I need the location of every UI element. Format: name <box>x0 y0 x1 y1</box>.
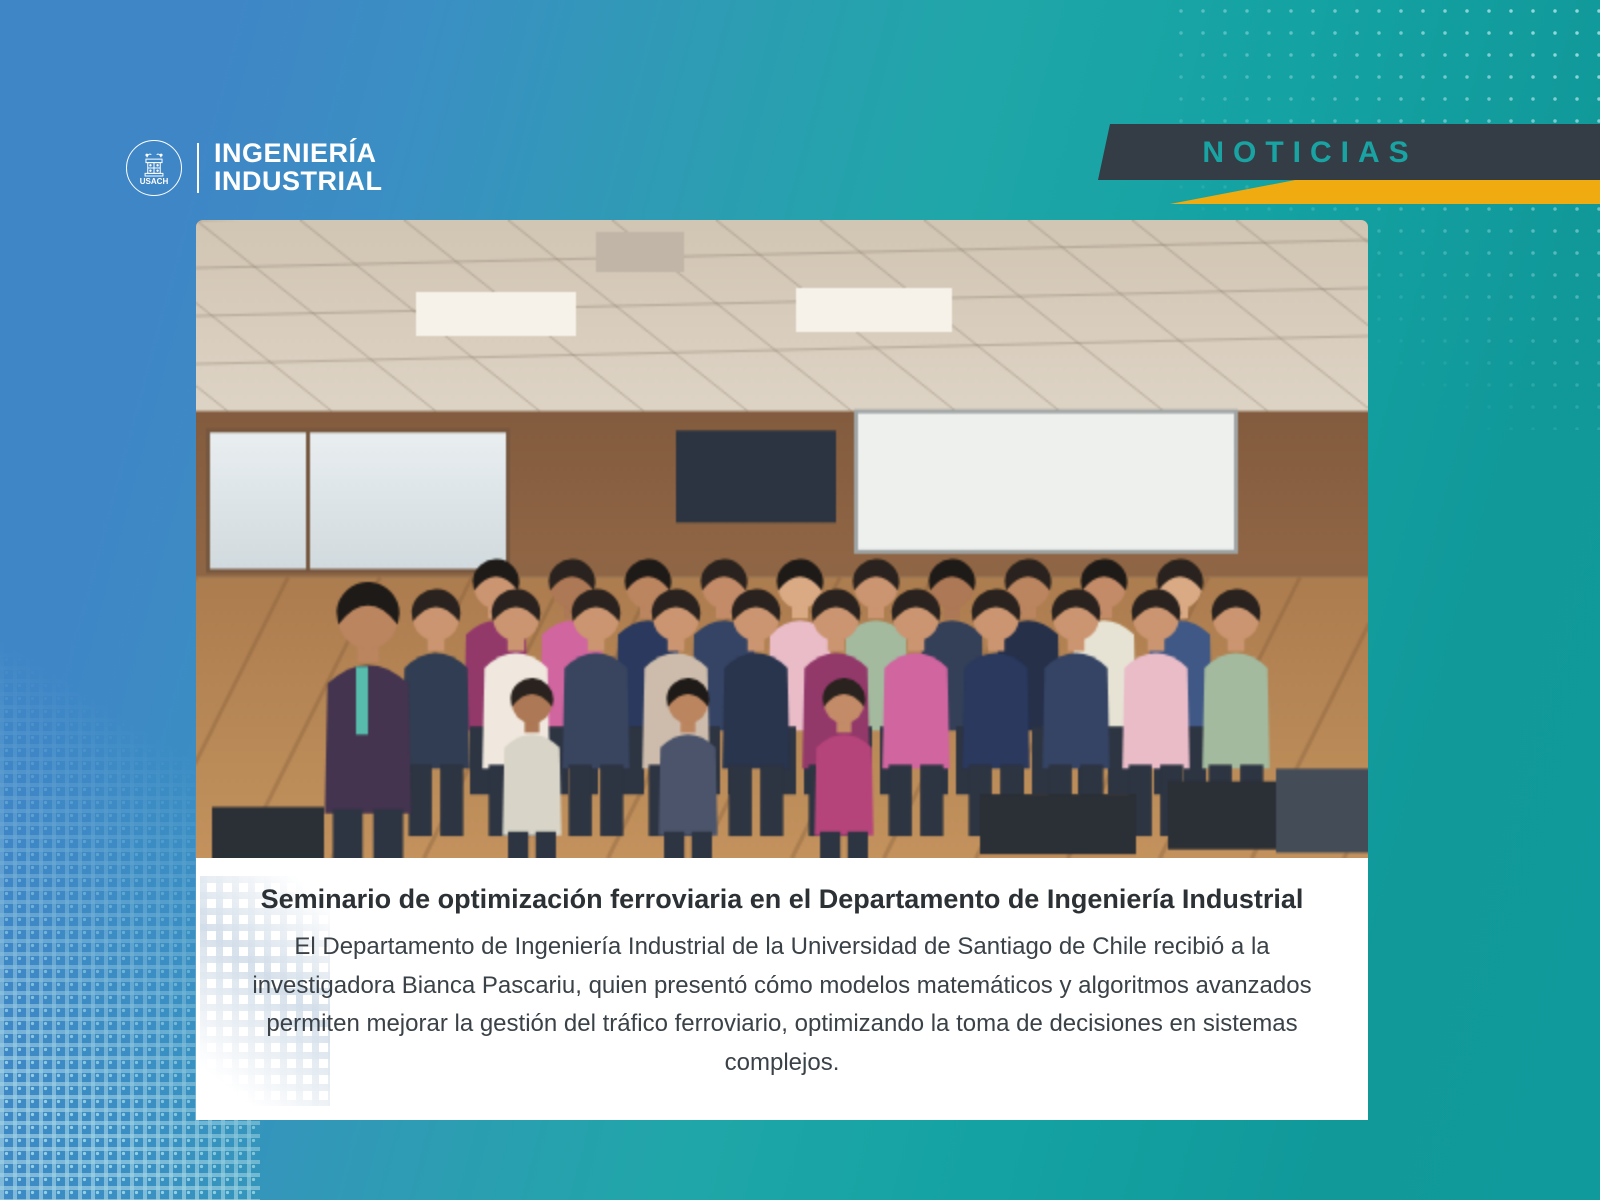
seminar-group-photo-canvas <box>196 220 1368 858</box>
news-banner: NOTICIAS <box>1080 118 1600 218</box>
brand-lockup: USACH INGENIERÍA INDUSTRIAL <box>126 140 383 196</box>
usach-seal-label: USACH <box>140 177 169 186</box>
brand-line-2: INDUSTRIAL <box>214 168 383 196</box>
news-banner-label: NOTICIAS <box>1180 130 1440 176</box>
news-title: Seminario de optimización ferroviaria en… <box>240 880 1324 918</box>
news-caption: Seminario de optimización ferroviaria en… <box>196 858 1368 1120</box>
brand-line-1: INGENIERÍA <box>214 140 383 168</box>
brand-divider <box>197 143 199 193</box>
brand-name: INGENIERÍA INDUSTRIAL <box>214 140 383 195</box>
news-body: El Departamento de Ingeniería Industrial… <box>240 928 1324 1082</box>
seminar-group-photo <box>196 220 1368 858</box>
news-card: Seminario de optimización ferroviaria en… <box>196 220 1368 1120</box>
usach-seal-icon: USACH <box>126 140 182 196</box>
